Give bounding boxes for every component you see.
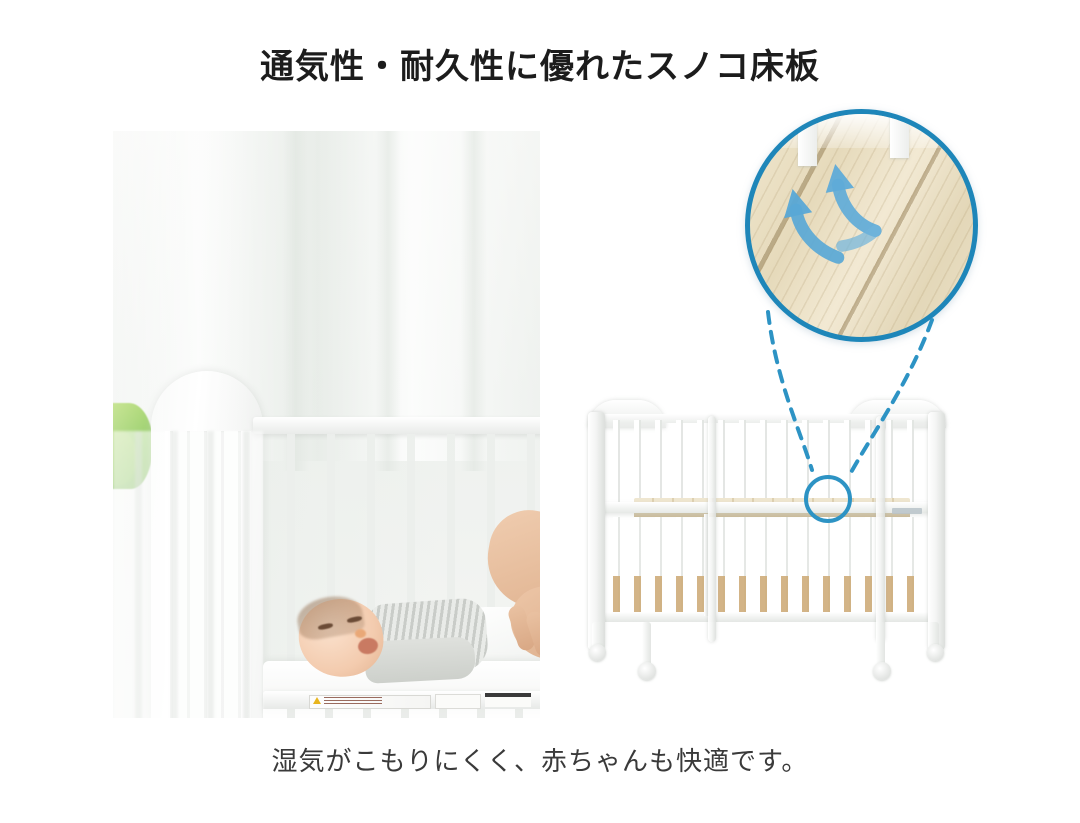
crib-middle-rail xyxy=(596,502,938,513)
warning-label-text xyxy=(324,697,382,705)
crib-lower-slats xyxy=(263,709,540,718)
page-title: 通気性・耐久性に優れたスノコ床板 xyxy=(0,48,1080,87)
product-label xyxy=(435,694,481,709)
crib-leg xyxy=(642,622,651,666)
crib-vertical-post xyxy=(876,416,885,642)
crib-corner-post xyxy=(928,412,945,650)
caster-wheel xyxy=(927,644,944,661)
brand-plate xyxy=(892,508,922,514)
crib-bottom-rail xyxy=(596,612,938,622)
airflow-arrow-left xyxy=(779,186,839,258)
caster-wheel xyxy=(873,662,891,680)
airflow-arrows xyxy=(750,114,973,337)
caster-wheel xyxy=(638,662,656,680)
baby-nose xyxy=(355,629,366,638)
foreground-crib-slats xyxy=(113,431,263,718)
caster-wheel xyxy=(589,644,606,661)
baby-in-crib-photo xyxy=(113,131,540,718)
crib-product-photo xyxy=(576,386,964,682)
crib-leg xyxy=(876,622,885,666)
product-label xyxy=(485,693,531,707)
airflow-arrow-right xyxy=(821,162,875,247)
crib-vertical-post xyxy=(708,416,716,642)
page-caption: 湿気がこもりにくく、赤ちゃんも快適です。 xyxy=(0,741,1080,778)
slat-floor-closeup-inset xyxy=(745,109,978,342)
crib-top-rail xyxy=(253,417,540,434)
crib-corner-post xyxy=(588,412,605,650)
warning-triangle-icon xyxy=(313,697,321,704)
